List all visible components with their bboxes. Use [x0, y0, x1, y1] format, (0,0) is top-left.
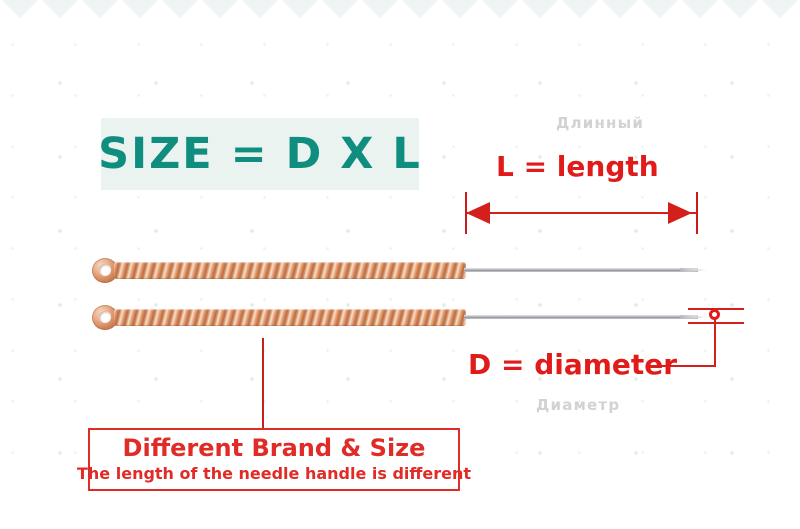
arrow-head-right-icon [668, 202, 692, 224]
needle-coil-handle [114, 309, 466, 326]
diameter-marker [688, 304, 744, 330]
needle-shaft [464, 268, 698, 272]
needle-shaft [464, 315, 698, 319]
brand-note-title: Different Brand & Size [123, 436, 426, 461]
size-formula-panel: SIZE = D X L [101, 118, 419, 190]
size-formula-text: SIZE = D X L [98, 129, 422, 179]
dimension-tick-right [696, 192, 698, 234]
needle-coil-handle [114, 262, 466, 279]
brand-note-box: Different Brand & Size The length of the… [88, 428, 460, 491]
top-zigzag-decoration [0, 0, 800, 34]
brand-note-leader-line [262, 338, 264, 428]
length-dimension-arrow [460, 192, 705, 234]
product-diagram-canvas: SIZE = D X L Длинный Диаметр L = length … [0, 0, 800, 529]
length-label: L = length [496, 150, 659, 183]
diameter-caption-russian: Диаметр [536, 396, 620, 414]
brand-note-subtitle: The length of the needle handle is diffe… [77, 464, 471, 483]
diameter-label: D = diameter [468, 348, 677, 381]
diameter-leader-vertical [714, 318, 716, 367]
background-watermark-pattern [0, 40, 800, 470]
diameter-leader-horizontal [652, 365, 716, 367]
diameter-guide-line-bottom [688, 322, 744, 324]
arrow-head-left-icon [466, 202, 490, 224]
length-caption-russian: Длинный [556, 114, 644, 132]
dimension-line [467, 212, 696, 214]
